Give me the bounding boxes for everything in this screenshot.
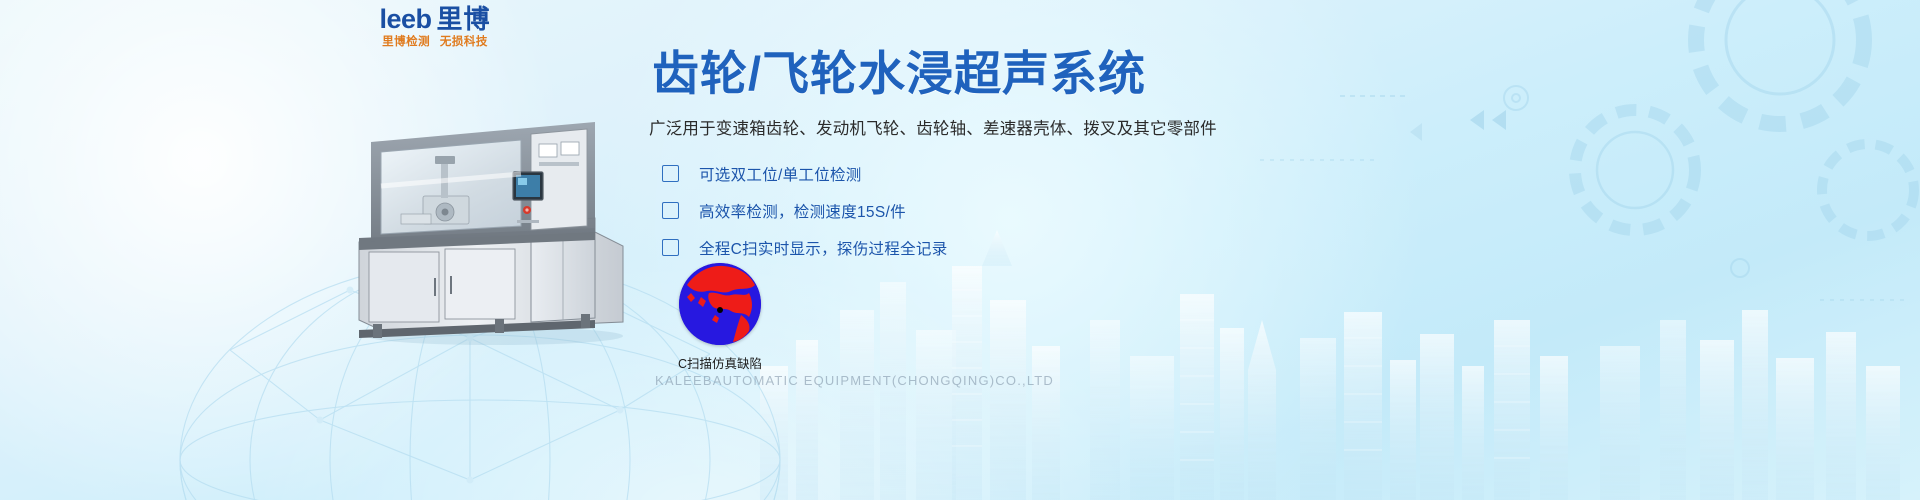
logo-tagline-right: 无损科技	[440, 36, 488, 48]
cscan-disc-image	[679, 263, 761, 345]
cscan-caption: C扫描仿真缺陷	[672, 353, 768, 372]
feature-label: 可选双工位/单工位检测	[699, 163, 862, 185]
logo-wordmark: leeb里博	[345, 6, 525, 33]
checkbox-icon[interactable]	[662, 202, 679, 219]
list-item: 全程C扫实时显示，探伤过程全记录	[648, 231, 1248, 265]
checkbox-icon[interactable]	[662, 239, 679, 256]
cscan-sample: C扫描仿真缺陷	[672, 263, 768, 372]
feature-label: 全程C扫实时显示，探伤过程全记录	[699, 237, 948, 259]
logo-latin-text: leeb	[379, 4, 431, 34]
feature-list: 可选双工位/单工位检测 高效率检测，检测速度15S/件 全程C扫实时显示，探伤过…	[648, 157, 1248, 265]
page-title: 齿轮/飞轮水浸超声系统	[652, 48, 1248, 101]
company-watermark: KALEEBAUTOMATIC EQUIPMENT(CHONGQING)CO.,…	[655, 373, 1054, 388]
brand-logo[interactable]: leeb里博 里博检测 无损科技	[345, 6, 525, 49]
hero-content: 齿轮/飞轮水浸超声系统 广泛用于变速箱齿轮、发动机飞轮、齿轮轴、差速器壳体、拨叉…	[648, 48, 1248, 268]
page-subtitle: 广泛用于变速箱齿轮、发动机飞轮、齿轮轴、差速器壳体、拨叉及其它零部件	[649, 115, 1248, 139]
logo-tagline-left: 里博检测	[382, 36, 430, 48]
checkbox-icon[interactable]	[662, 165, 679, 182]
list-item: 高效率检测，检测速度15S/件	[648, 194, 1248, 228]
tech-decoration-graphic	[1220, 0, 1920, 500]
logo-tagline: 里博检测 无损科技	[345, 37, 525, 49]
promo-banner: leeb里博 里博检测 无损科技	[0, 0, 1920, 500]
product-machine-image	[345, 100, 635, 350]
feature-label: 高效率检测，检测速度15S/件	[699, 200, 906, 222]
list-item: 可选双工位/单工位检测	[648, 157, 1248, 191]
cscan-defect-map	[679, 263, 761, 345]
logo-chinese-text: 里博	[437, 4, 491, 34]
